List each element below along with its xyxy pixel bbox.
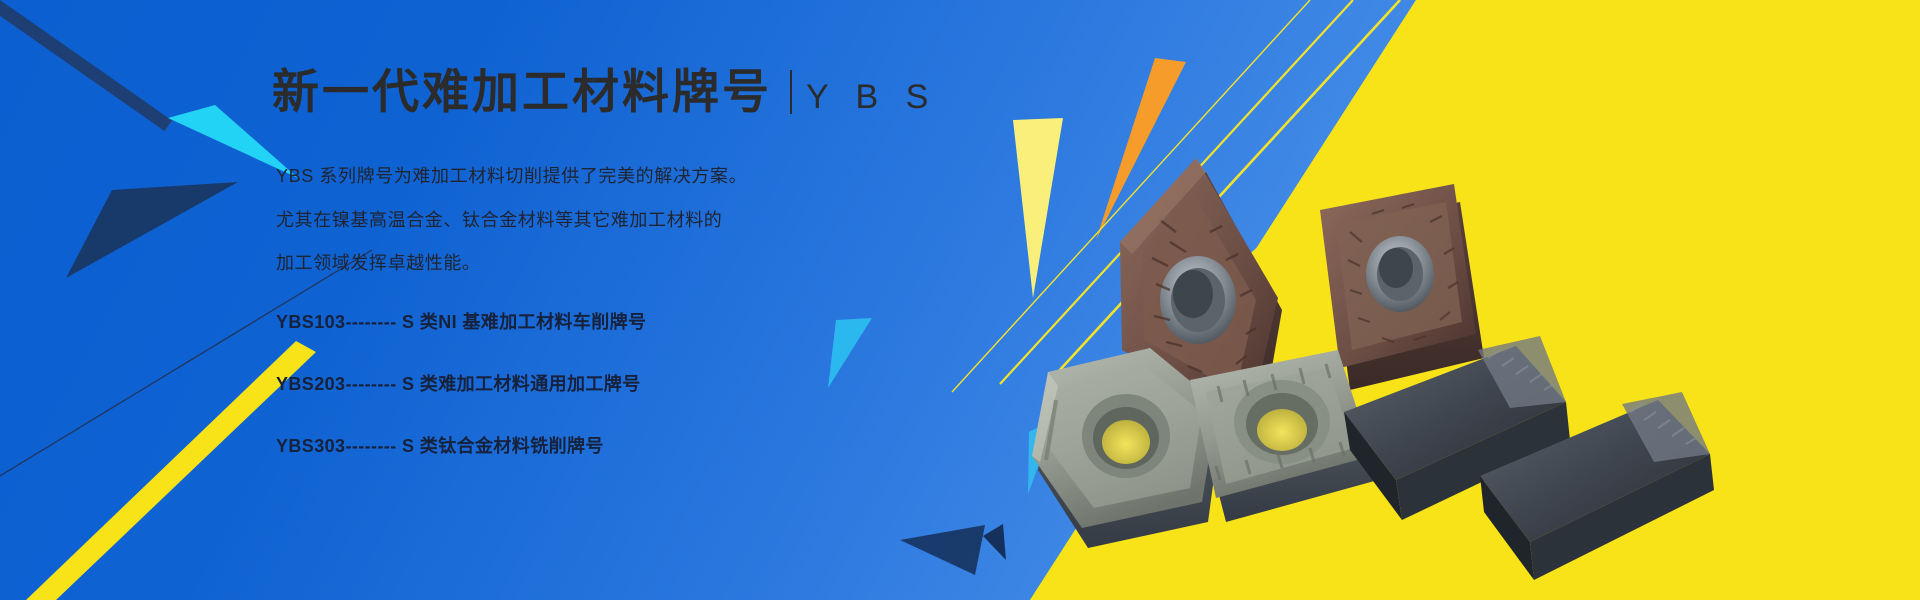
grade-item-ybs103: YBS103-------- S 类NI 基难加工材料车削牌号 <box>276 308 646 334</box>
promo-banner: 新一代难加工材料牌号 Y B S YBS 系列牌号为难加工材料切削提供了完美的解… <box>0 0 1920 600</box>
grade-item-ybs203: YBS203-------- S 类难加工材料通用加工牌号 <box>276 370 646 396</box>
description-line-3: 加工领域发挥卓越性能。 <box>276 253 976 275</box>
banner-content: 新一代难加工材料牌号 Y B S YBS 系列牌号为难加工材料切削提供了完美的解… <box>272 0 1032 600</box>
description-line-2: 尤其在镍基高温合金、钛合金材料等其它难加工材料的 <box>276 210 976 232</box>
grade-item-ybs303: YBS303-------- S 类钛合金材料铣削牌号 <box>276 432 646 458</box>
carbide-insert-cnmg-rhombic <box>1320 184 1484 390</box>
title-separator-bar <box>790 70 792 114</box>
decor-navy-triangle <box>66 182 238 278</box>
grade-list: YBS103-------- S 类NI 基难加工材料车削牌号 YBS203--… <box>276 308 646 494</box>
brand-name: Y B S <box>806 78 937 117</box>
product-photo-group <box>1010 150 1920 600</box>
description-line-1: YBS 系列牌号为难加工材料切削提供了完美的解决方案。 <box>276 166 976 188</box>
page-title: 新一代难加工材料牌号 <box>272 68 772 115</box>
banner-description: YBS 系列牌号为难加工材料切削提供了完美的解决方案。 尤其在镍基高温合金、钛合… <box>276 166 976 297</box>
banner-title-row: 新一代难加工材料牌号 Y B S <box>272 64 937 117</box>
